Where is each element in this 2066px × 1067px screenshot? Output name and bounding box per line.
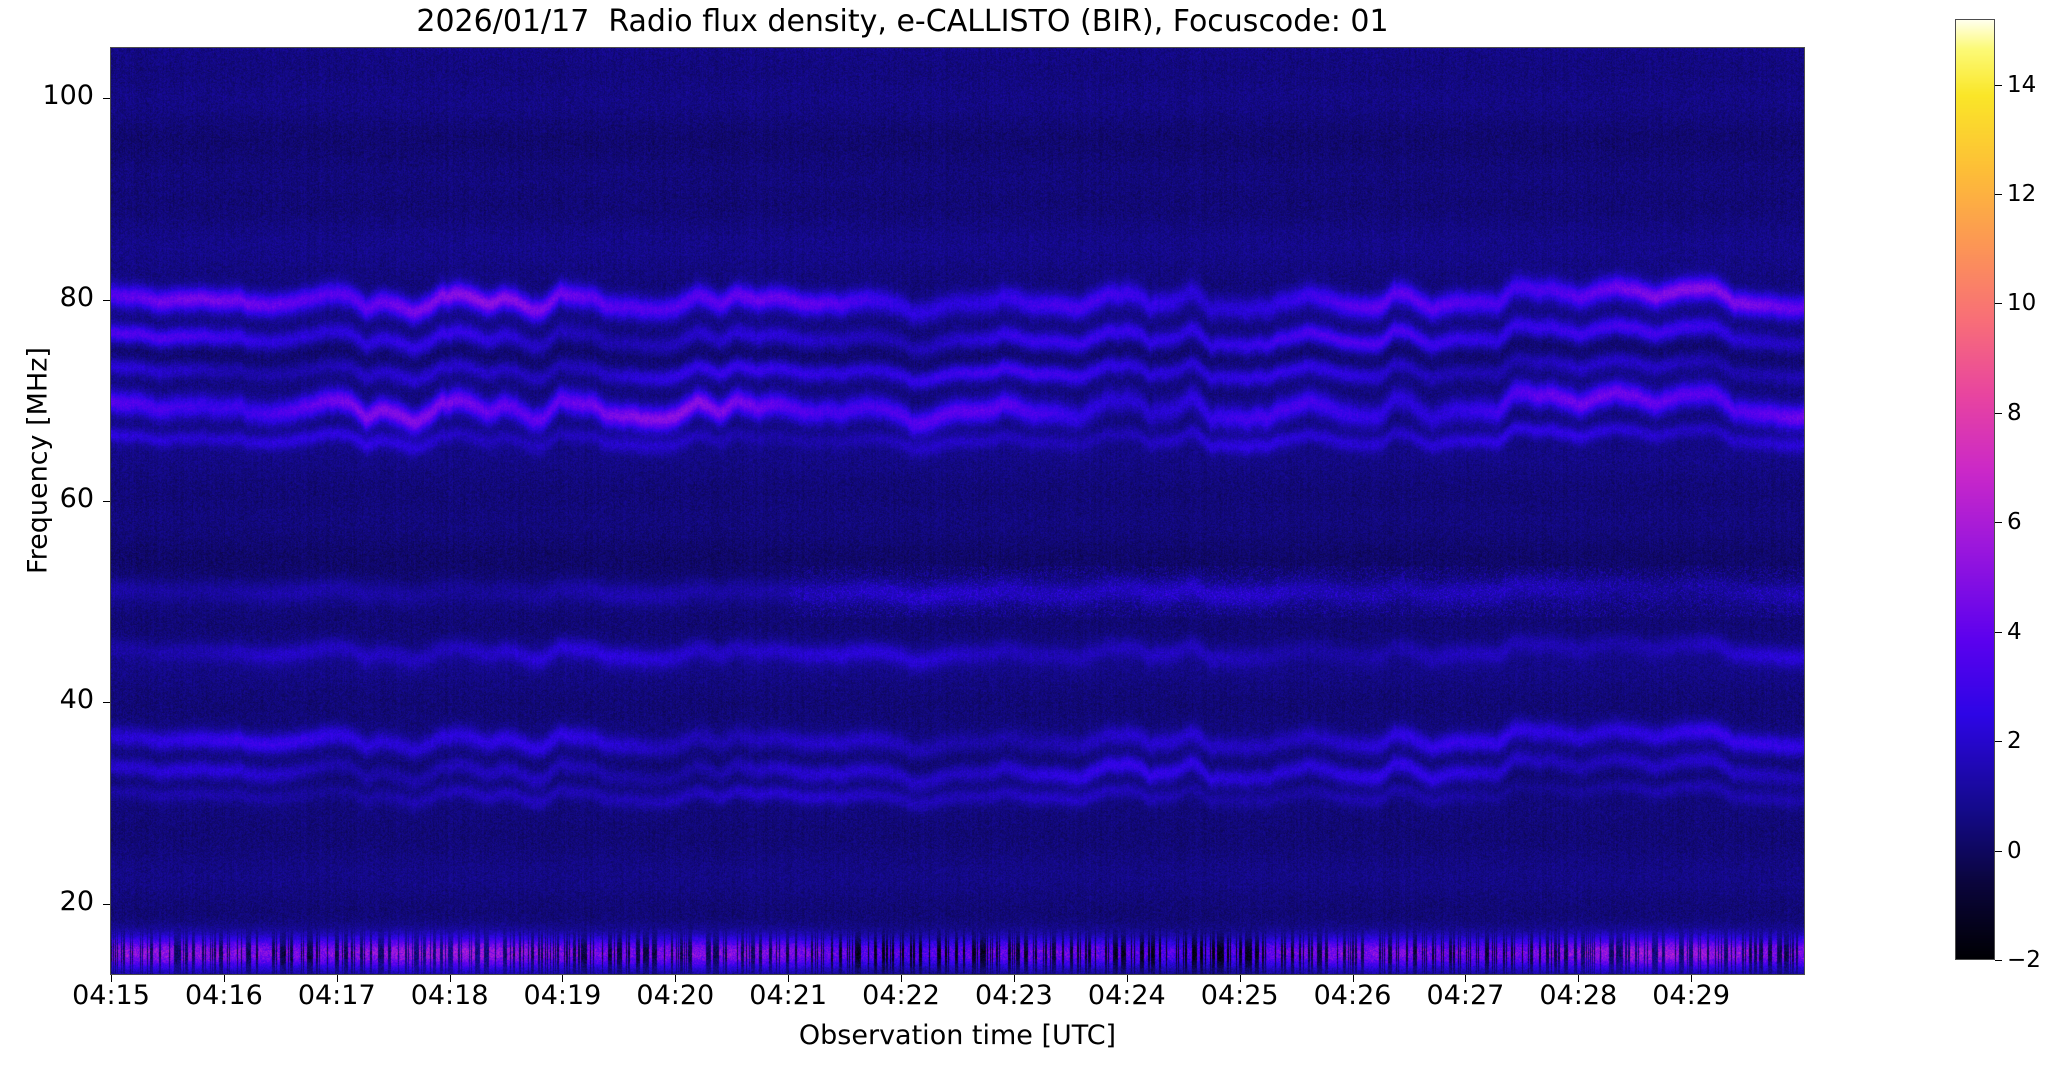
colorbar-tick-mark: [1995, 303, 2002, 304]
colorbar-tick-label: 8: [2007, 400, 2022, 426]
x-tick-label: 04:28: [1539, 980, 1617, 1011]
y-tick-label: 100: [0, 80, 94, 111]
y-tick-label: 40: [0, 684, 94, 715]
colorbar-tick-mark: [1995, 413, 2002, 414]
x-tick-label: 04:20: [636, 980, 714, 1011]
colorbar: [1955, 19, 1995, 960]
spectrogram-plot-area[interactable]: [110, 47, 1805, 975]
spectrogram-figure: 2026/01/17 Radio flux density, e-CALLIST…: [0, 0, 2066, 1067]
colorbar-tick-mark: [1995, 85, 2002, 86]
y-tick-mark: [103, 702, 110, 703]
x-tick-label: 04:27: [1426, 980, 1504, 1011]
colorbar-tick-mark: [1995, 851, 2002, 852]
x-axis-label: Observation time [UTC]: [110, 1020, 1805, 1051]
x-tick-label: 04:15: [72, 980, 150, 1011]
colorbar-tick-mark: [1995, 960, 2002, 961]
y-tick-label: 60: [0, 483, 94, 514]
colorbar-tick-mark: [1995, 522, 2002, 523]
colorbar-tick-mark: [1995, 632, 2002, 633]
y-tick-mark: [103, 300, 110, 301]
y-tick-label: 80: [0, 282, 94, 313]
colorbar-tick-label: 10: [2007, 290, 2036, 316]
y-axis-label: Frequency [MHz]: [23, 281, 54, 641]
spectrogram-image: [111, 48, 1804, 974]
x-tick-label: 04:19: [524, 980, 602, 1011]
x-tick-label: 04:24: [1088, 980, 1166, 1011]
x-tick-label: 04:22: [862, 980, 940, 1011]
y-tick-mark: [103, 98, 110, 99]
colorbar-tick-mark: [1995, 194, 2002, 195]
colorbar-gradient: [1956, 20, 1994, 959]
y-tick-label: 20: [0, 886, 94, 917]
colorbar-tick-label: 14: [2007, 72, 2036, 98]
colorbar-tick-mark: [1995, 741, 2002, 742]
x-tick-label: 04:29: [1652, 980, 1730, 1011]
x-tick-label: 04:25: [1201, 980, 1279, 1011]
page-title: 2026/01/17 Radio flux density, e-CALLIST…: [0, 4, 1805, 39]
y-tick-mark: [103, 501, 110, 502]
x-tick-label: 04:21: [749, 980, 827, 1011]
x-tick-label: 04:18: [411, 980, 489, 1011]
colorbar-tick-label: 6: [2007, 509, 2022, 535]
colorbar-tick-label: 2: [2007, 728, 2022, 754]
colorbar-tick-label: 0: [2007, 838, 2022, 864]
x-tick-label: 04:16: [185, 980, 263, 1011]
x-tick-label: 04:17: [298, 980, 376, 1011]
colorbar-tick-label: 4: [2007, 619, 2022, 645]
y-tick-mark: [103, 904, 110, 905]
x-tick-label: 04:26: [1314, 980, 1392, 1011]
colorbar-tick-label: −2: [2007, 947, 2041, 973]
colorbar-tick-label: 12: [2007, 181, 2036, 207]
x-tick-label: 04:23: [975, 980, 1053, 1011]
